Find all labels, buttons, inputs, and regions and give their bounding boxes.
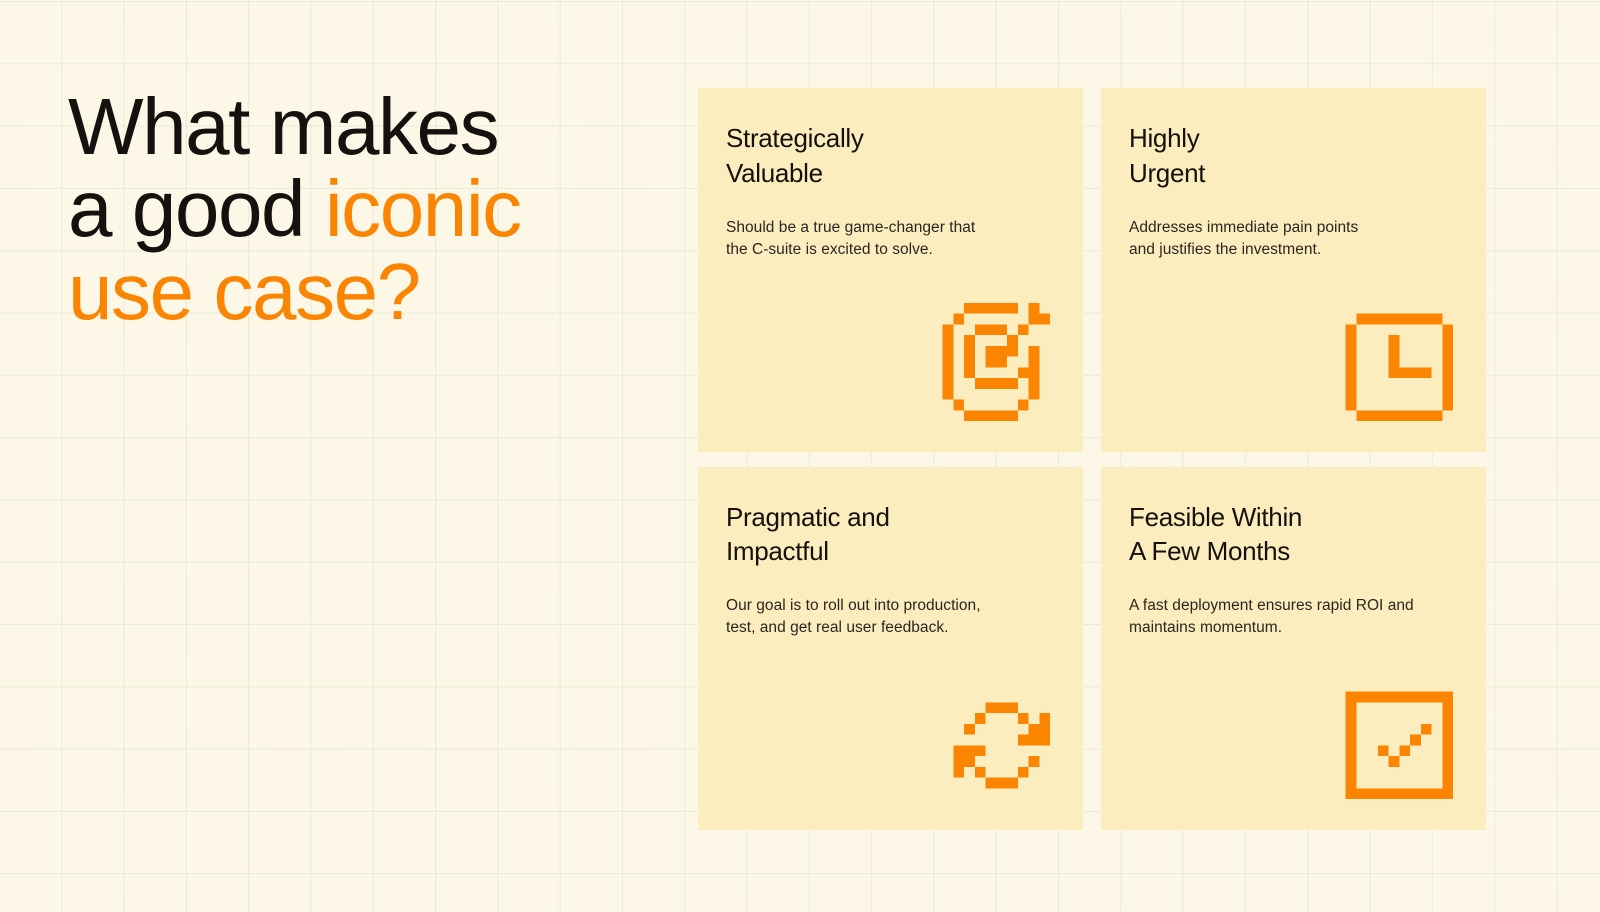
pixel-target-icon bbox=[932, 303, 1050, 421]
pixel-refresh-arrow-icon bbox=[932, 681, 1050, 799]
card-title: Highly Urgent bbox=[1129, 121, 1486, 191]
headline-line-3-accent: use case? bbox=[68, 247, 420, 336]
criteria-card-grid: Strategically Valuable Should be a true … bbox=[698, 88, 1486, 830]
card-title: Feasible Within A Few Months bbox=[1129, 500, 1486, 570]
card-description: Should be a true game-changer that the C… bbox=[726, 217, 1083, 261]
page-title: What makes a good iconic use case? bbox=[68, 86, 668, 333]
headline-line-2-plain: a good bbox=[68, 164, 325, 253]
card-description: A fast deployment ensures rapid ROI and … bbox=[1129, 595, 1486, 639]
pixel-checkmark-frame-icon bbox=[1335, 681, 1453, 799]
headline-line-2-accent: iconic bbox=[325, 164, 521, 253]
card-description: Addresses immediate pain points and just… bbox=[1129, 217, 1486, 261]
card-highly-urgent[interactable]: Highly Urgent Addresses immediate pain p… bbox=[1101, 88, 1486, 452]
card-title: Strategically Valuable bbox=[726, 121, 1083, 191]
card-title: Pragmatic and Impactful bbox=[726, 500, 1083, 570]
headline-line-1: What makes bbox=[68, 82, 498, 171]
card-description: Our goal is to roll out into production,… bbox=[726, 595, 1083, 639]
card-feasible-within-a-few-months[interactable]: Feasible Within A Few Months A fast depl… bbox=[1101, 467, 1486, 831]
card-strategically-valuable[interactable]: Strategically Valuable Should be a true … bbox=[698, 88, 1083, 452]
pixel-clock-l-frame-icon bbox=[1335, 303, 1453, 421]
card-pragmatic-and-impactful[interactable]: Pragmatic and Impactful Our goal is to r… bbox=[698, 467, 1083, 831]
